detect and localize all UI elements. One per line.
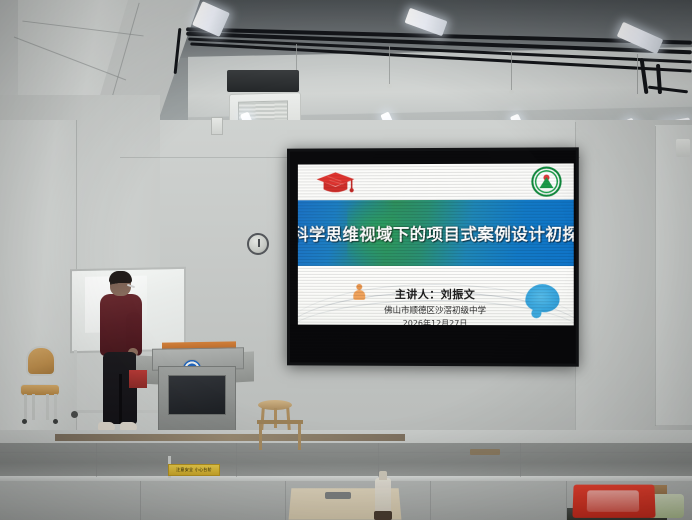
chair-leg-3: [32, 394, 35, 420]
whiteboard-wheel-left: [71, 411, 78, 418]
ceiling-hanger-2: [389, 46, 390, 84]
red-storage-basket: [572, 485, 655, 518]
safety-warning-sign: 注意安全 小心台阶: [168, 464, 220, 476]
wall-clock-icon: [247, 233, 269, 255]
chair-foot-1: [22, 419, 27, 424]
wooden-chair[interactable]: [20, 346, 60, 424]
ceiling-hanger-3: [511, 50, 512, 90]
slide-presenter-line: 主讲人：刘振文: [298, 286, 574, 302]
slide-footer-area: 主讲人：刘振文 佛山市顺德区沙滘初级中学 2026年12月27日: [298, 266, 574, 326]
ac-chassis: [227, 70, 299, 92]
floor-mat-strip: [55, 434, 405, 441]
red-object-behind-podium: [129, 370, 147, 388]
stage-front-face: [0, 443, 692, 479]
wall-sensor-icon: [211, 117, 223, 135]
floor-tile-line-1: [140, 481, 141, 520]
floor-tile-line-2: [285, 481, 286, 520]
ceiling-hanger-dot-3: [509, 90, 514, 94]
presenter-hair: [109, 271, 132, 283]
wall-speaker-icon: [676, 139, 690, 157]
floor-debris: [470, 449, 500, 455]
led-unused-area: [290, 325, 576, 364]
table-leg-2: [298, 424, 301, 450]
chair-leg-1: [24, 394, 27, 422]
table-apron: [257, 420, 303, 424]
whiteboard-leg-left: [74, 350, 77, 412]
presenter-arm: [126, 312, 141, 352]
school-emblem-icon: [531, 167, 561, 197]
presenter-legs: [103, 352, 137, 424]
stage-tile-line-1: [0, 452, 692, 453]
floor-tile-line-3: [430, 481, 431, 520]
wall-seam-corner: [655, 126, 656, 426]
presentation-slide: 科学思维视域下的项目式案例设计初探 主讲人：刘振文 佛山市顺德区沙滘初级中学 2…: [298, 163, 574, 326]
chair-leg-2: [54, 394, 57, 422]
dark-floor-object: [374, 511, 392, 520]
slide-title: 科学思维视域下的项目式案例设计初探: [298, 200, 574, 266]
chair-foot-2: [53, 419, 58, 424]
chair-backrest: [26, 346, 56, 376]
right-wall-return: [655, 125, 692, 425]
graduation-cap-icon: [316, 170, 356, 196]
slide-header-area: [298, 163, 574, 200]
led-display-wall[interactable]: 科学思维视域下的项目式案例设计初探 主讲人：刘振文 佛山市顺德区沙滘初级中学 2…: [287, 147, 579, 366]
emblem-leaf: [539, 177, 553, 188]
stage-tile-line-5: [520, 443, 521, 477]
table-leg-1: [259, 424, 262, 450]
podium-front-screen: [168, 375, 226, 415]
stage-tile-line-2: [96, 443, 97, 477]
chair-leg-4: [46, 394, 49, 420]
ceiling-hanger-dot-4: [635, 94, 640, 98]
slide-school-line: 佛山市顺德区沙滘初级中学: [298, 304, 574, 317]
classroom-photo-scene: 科学思维视域下的项目式案例设计初探 主讲人：刘振文 佛山市顺德区沙滘初级中学 2…: [0, 0, 692, 520]
ceiling-hanger-dot-2: [387, 84, 392, 88]
bottle-neck: [379, 471, 387, 480]
ceiling-hanger-4: [637, 54, 638, 94]
stage-tile-line-3: [236, 443, 237, 477]
floor-mat-slot: [325, 492, 351, 499]
table-legs-group: [257, 420, 303, 446]
